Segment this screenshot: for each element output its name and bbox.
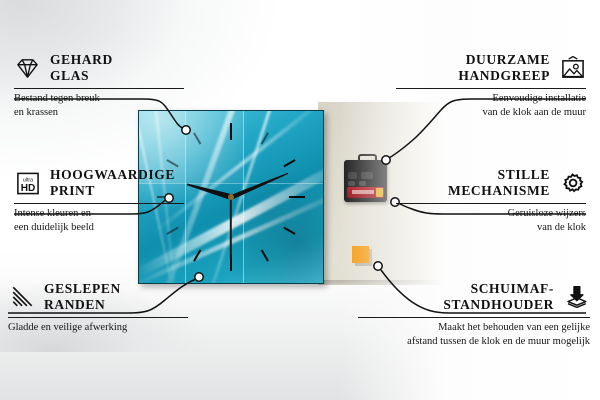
feature-desc-line2: van de klok: [537, 222, 586, 233]
infographic-canvas: GEHARDGLAS Bestand tegen breuken krassen…: [0, 0, 600, 400]
feature-rule: [358, 317, 590, 318]
feature-title-line1: STILLE: [498, 167, 550, 182]
feature-desc-line2: van de klok aan de muur: [482, 107, 586, 118]
tick-3: [289, 196, 305, 198]
feature-duurzame-handgreep[interactable]: DUURZAMEHANDGREEP Eenvoudige installatie…: [396, 52, 586, 119]
feature-desc-line1: Gladde en veilige afwerking: [8, 322, 127, 333]
svg-text:HD: HD: [21, 183, 36, 194]
feature-desc-line1: Eenvoudige installatie: [492, 93, 586, 104]
feature-desc-line2: afstand tussen de klok en de muur mogeli…: [407, 336, 590, 347]
feature-title-line1: GEHARD: [50, 52, 113, 67]
feature-rule: [14, 88, 184, 89]
feature-desc-line1: Geruisloze wijzers: [508, 208, 586, 219]
feature-title-line1: GESLEPEN: [44, 281, 121, 296]
second-hand: [230, 197, 232, 259]
feature-geslepen-randen[interactable]: GESLEPENRANDEN Gladde en veilige afwerki…: [8, 281, 188, 335]
picture-frame-icon: [559, 56, 586, 81]
diamond-icon: [14, 56, 41, 81]
feature-title-line2: PRINT: [50, 183, 95, 198]
feature-title-line1: HOOGWAARDIGE: [50, 167, 175, 182]
feature-title-line2: RANDEN: [44, 297, 105, 312]
tick-12: [230, 123, 232, 140]
feature-title-line2: HANDGREEP: [458, 68, 550, 83]
feature-gehard-glas[interactable]: GEHARDGLAS Bestand tegen breuken krassen: [14, 52, 184, 119]
ultra-hd-icon: ultra HD: [14, 171, 41, 196]
feature-title-line1: DUURZAME: [466, 52, 550, 67]
feature-hoogwaardige-print[interactable]: ultra HD HOOGWAARDIGEPRINT Intense kleur…: [14, 167, 184, 234]
feature-schuimafstandhouder[interactable]: SCHUIMAF-STANDHOUDER Maakt het behouden …: [358, 281, 590, 348]
feature-rule: [396, 203, 586, 204]
press-down-icon: [563, 285, 590, 310]
feature-desc-line1: Maakt het behouden van een gelijke: [438, 322, 590, 333]
feature-stille-mechanisme[interactable]: STILLEMECHANISME Geruisloze wijzersvan d…: [396, 167, 586, 234]
diagonal-lines-icon: [8, 285, 35, 310]
feature-desc-line2: een duidelijk beeld: [14, 222, 94, 233]
feature-title-line2: MECHANISME: [448, 183, 550, 198]
feature-rule: [8, 317, 188, 318]
feature-title-line2: STANDHOUDER: [443, 297, 554, 312]
feature-title-line2: GLAS: [50, 68, 89, 83]
feature-desc-line2: en krassen: [14, 107, 58, 118]
clock-hub: [228, 194, 234, 200]
feature-desc-line1: Bestand tegen breuk: [14, 93, 100, 104]
gear-icon: [559, 171, 586, 196]
feature-title-line1: SCHUIMAF-: [471, 281, 554, 296]
feature-desc-line1: Intense kleuren en: [14, 208, 91, 219]
feature-rule: [14, 203, 184, 204]
feature-rule: [396, 88, 586, 89]
